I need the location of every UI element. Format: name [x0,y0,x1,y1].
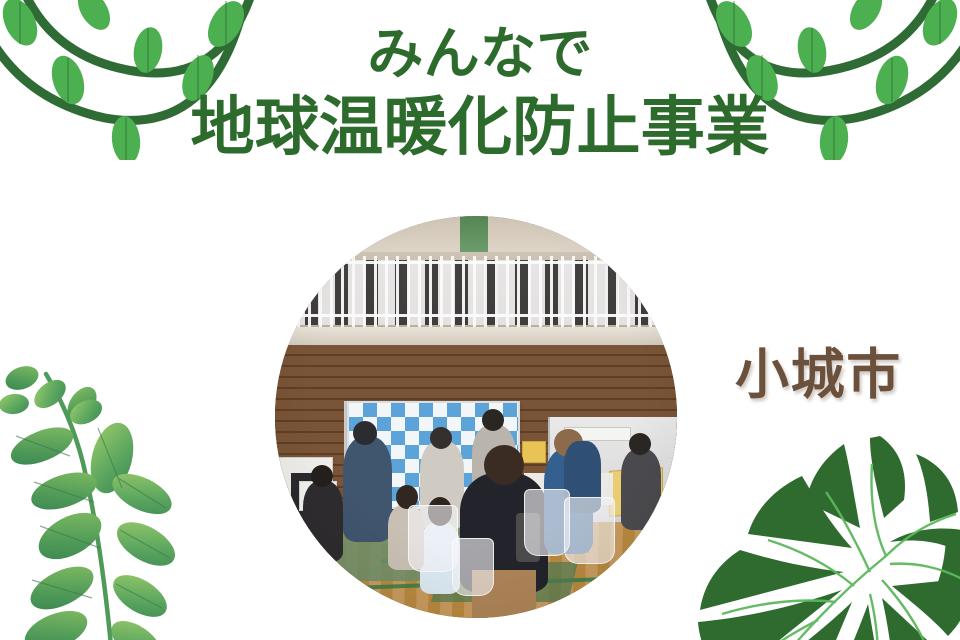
poster-canvas: みんなで 地球温暖化防止事業 小城市 [0,0,960,640]
headline-line-2: 地球温暖化防止事業 [0,95,960,162]
poster-headline: みんなで 地球温暖化防止事業 [0,26,960,162]
headline-line-1: みんなで [0,26,960,85]
event-photo-scene [275,216,677,618]
city-name-label: 小城市 [735,330,902,409]
watercolor-branch-icon [0,356,244,640]
monstera-leaf-icon [694,422,960,640]
photo-vignette [275,216,677,618]
event-photo [275,216,677,618]
